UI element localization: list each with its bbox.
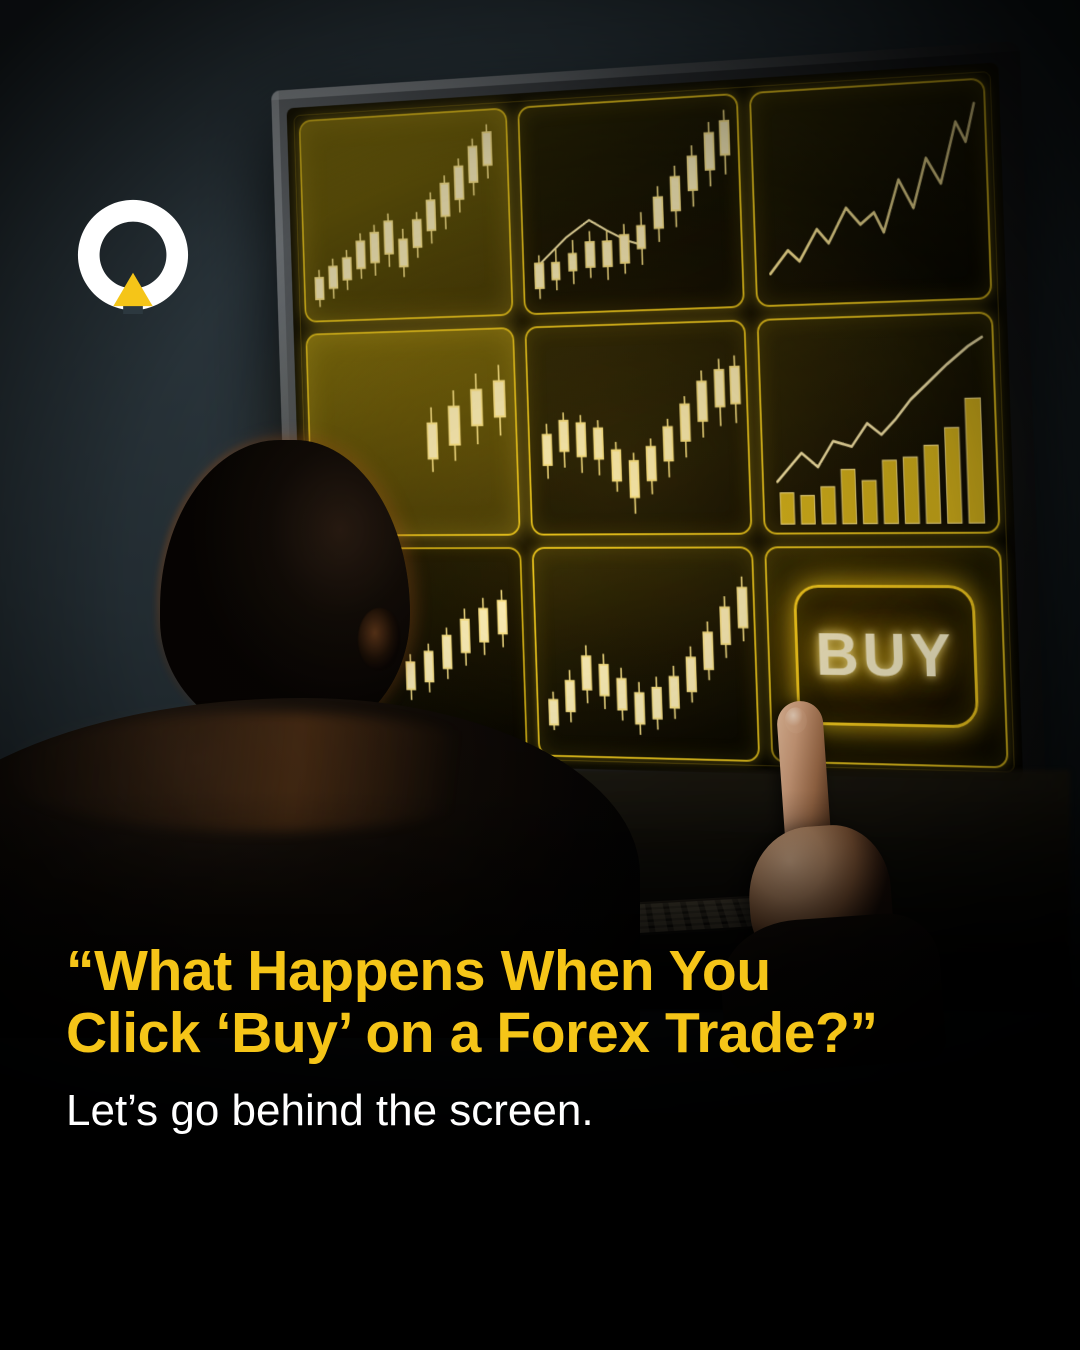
caption-block: “What Happens When You Click ‘Buy’ on a … [66,940,1040,1136]
brand-logo[interactable] [74,196,192,314]
headline-text: “What Happens When You Click ‘Buy’ on a … [66,940,1040,1064]
social-post-canvas: BUY “What Happens When [0,0,1080,1350]
subline-text: Let’s go behind the screen. [66,1086,1040,1136]
ring-with-triangle-logo-icon [74,196,192,314]
